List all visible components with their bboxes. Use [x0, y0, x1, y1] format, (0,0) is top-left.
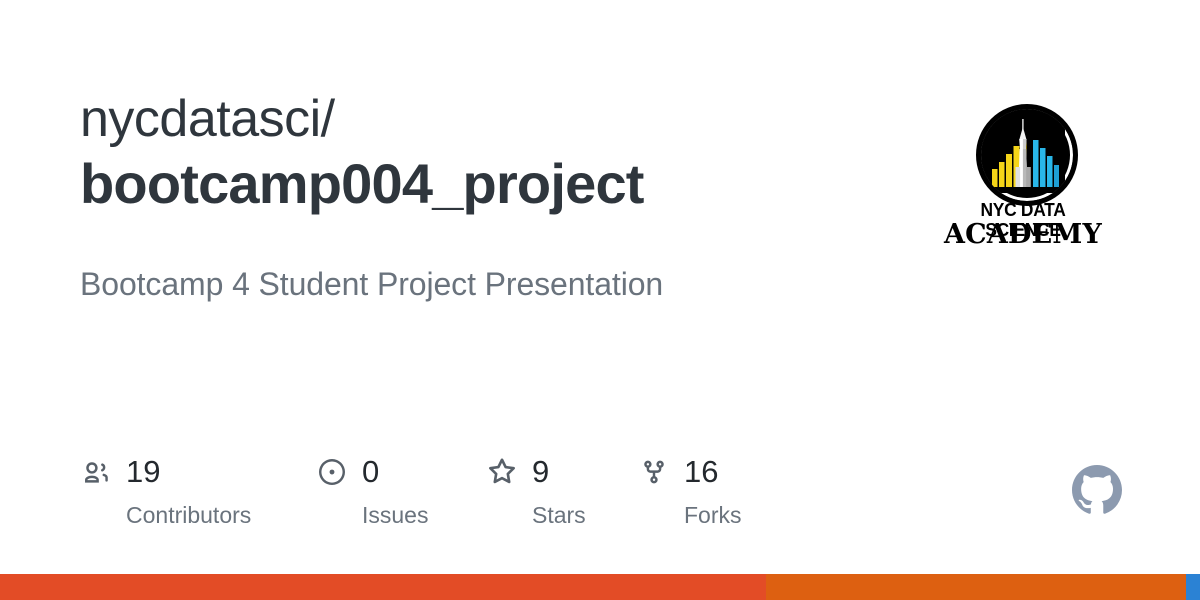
language-segment-2	[766, 574, 1186, 600]
stat-forks[interactable]: 16 Forks	[638, 452, 742, 542]
stat-stars-value: 9	[532, 455, 549, 489]
repository-name[interactable]: bootcamp004_project	[80, 150, 880, 218]
stat-forks-value: 16	[684, 455, 718, 489]
people-icon	[80, 456, 112, 488]
repo-forked-icon	[638, 456, 670, 488]
repository-stats: 19 Contributors 0 Issues	[80, 452, 780, 542]
github-octocat-icon	[1072, 465, 1122, 515]
issue-opened-icon	[316, 456, 348, 488]
language-segment-1	[0, 574, 766, 600]
stat-issues[interactable]: 0 Issues	[316, 452, 428, 542]
stat-issues-label: Issues	[316, 501, 428, 529]
stat-stars[interactable]: 9 Stars	[486, 452, 586, 542]
organization-logo: NYC DATA SCIENCE ACADEMY	[938, 104, 1108, 252]
repository-owner[interactable]: nycdatasci/	[80, 88, 880, 150]
stat-stars-label: Stars	[486, 501, 586, 529]
repository-social-preview-card: nycdatasci/ bootcamp004_project Bootcamp…	[0, 0, 1200, 600]
stat-contributors[interactable]: 19 Contributors	[80, 452, 251, 542]
stat-forks-label: Forks	[638, 501, 742, 529]
stat-contributors-value: 19	[126, 455, 160, 489]
repository-description: Bootcamp 4 Student Project Presentation	[80, 262, 900, 306]
star-icon	[486, 456, 518, 488]
stat-issues-value: 0	[362, 455, 379, 489]
language-bar	[0, 574, 1200, 600]
repository-heading: nycdatasci/ bootcamp004_project	[80, 88, 880, 218]
organization-logo-line2: ACADEMY	[938, 220, 1108, 250]
stat-contributors-label: Contributors	[80, 501, 251, 529]
nyc-skyline-icon	[976, 104, 1078, 206]
language-segment-3	[1186, 574, 1200, 600]
